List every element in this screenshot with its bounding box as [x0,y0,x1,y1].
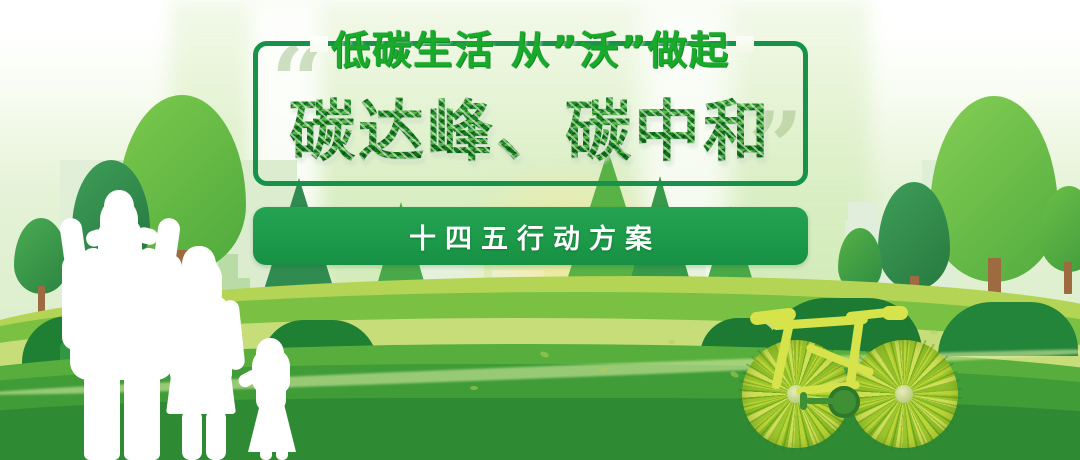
daughter-leg-left [260,446,272,460]
bike-handlebar-grip [882,306,908,320]
building-pale-right-a-cap [848,202,878,220]
bike-pedal-arm [806,398,834,404]
sub-banner-label: 十四五行动方案 [253,207,808,265]
mother-leg-left [182,410,202,460]
grass-speck [470,386,478,390]
sub-banner: 十四五行动方案 [253,207,808,265]
poster-headline: 碳达峰、碳中和 [253,78,808,174]
father-leg-right [124,358,160,460]
eco-poster: “ ” 低碳生活 从”沃”做起 碳达峰、碳中和 十四五行动方案 [0,0,1080,460]
leaf-wheel-front [850,340,958,448]
tree-trunk-left-small [38,286,45,312]
bicycle-with-leaf-wheels [742,300,957,450]
tree-trunk-right-sm [1064,262,1072,294]
mother-skirt [166,360,236,414]
poster-tagline: 低碳生活 从”沃”做起 [253,20,808,76]
father-leg-left [84,358,120,460]
mother-leg-right [206,410,226,460]
daughter-leg-right [276,446,288,460]
grass-speck [668,340,675,344]
bike-pedal [800,392,807,410]
